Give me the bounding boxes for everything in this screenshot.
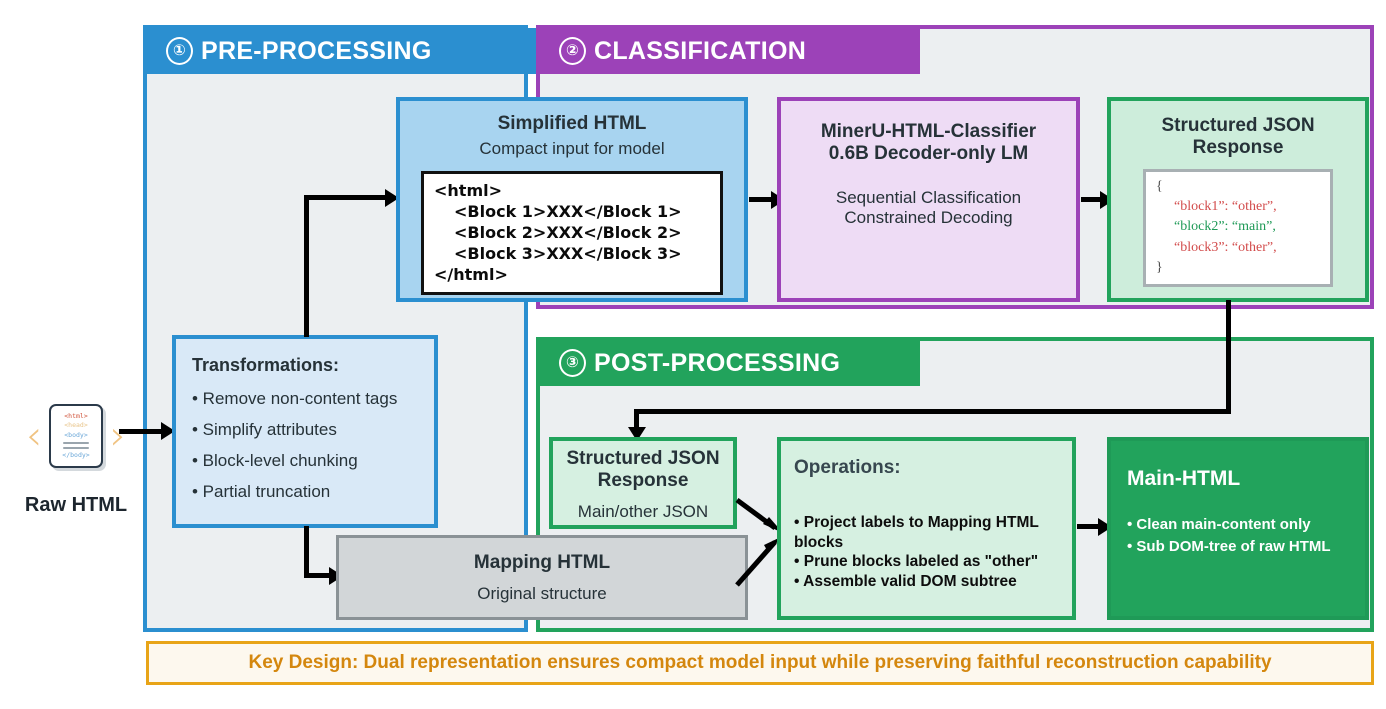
connector-transform-up xyxy=(304,195,309,337)
json-brace-close: } xyxy=(1156,258,1322,278)
json-entry: “block3”: “other”, xyxy=(1156,238,1322,258)
stage-tab-pre-processing: ① PRE-PROCESSING xyxy=(146,28,571,74)
post-structured-json-title-line1: Structured JSON xyxy=(559,448,727,470)
doc-line-head: <head> xyxy=(55,421,97,431)
simplified-html-box: Simplified HTML Compact input for model … xyxy=(396,97,748,302)
angle-left-icon: ‹ xyxy=(26,416,42,456)
simplified-html-title: Simplified HTML xyxy=(414,113,730,135)
connector-transform-down xyxy=(304,526,309,578)
stage-tab-post-processing: ③ POST-PROCESSING xyxy=(539,340,920,386)
json-entry-value: “other”, xyxy=(1232,199,1277,214)
json-entry-key: “block3”: xyxy=(1174,240,1228,255)
transformations-item: • Remove non-content tags xyxy=(192,390,418,407)
main-html-item: • Clean main-content only xyxy=(1127,514,1351,536)
mapping-html-subtitle: Original structure xyxy=(349,584,735,604)
operations-list: • Project labels to Mapping HTML blocks … xyxy=(794,513,1060,591)
connector-json-down xyxy=(1226,300,1231,414)
raw-html-label: Raw HTML xyxy=(6,494,146,517)
transformations-item: • Partial truncation xyxy=(192,483,418,500)
raw-html-icon: ‹ <html> <head> <body> </body> › xyxy=(6,392,146,480)
operations-title: Operations: xyxy=(794,457,1060,479)
classifier-title-line1: MinerU-HTML-Classifier xyxy=(793,121,1064,143)
doc-line-body: <body> xyxy=(55,431,97,441)
simplified-html-code: <html> <Block 1>XXX</Block 1> <Block 2>X… xyxy=(421,171,723,296)
classifier-subtitle-line1: Sequential Classification xyxy=(793,188,1064,208)
stage-number-3: ③ xyxy=(559,349,586,377)
transformations-list: • Remove non-content tags • Simplify att… xyxy=(192,390,418,500)
classifier-title-line2: 0.6B Decoder-only LM xyxy=(793,143,1064,165)
json-entry-key: “block2”: xyxy=(1174,219,1228,234)
classifier-subtitle-line2: Constrained Decoding xyxy=(793,208,1064,228)
doc-rule-1 xyxy=(63,442,89,444)
json-entry-key: “block1”: xyxy=(1174,199,1228,214)
mapping-html-title: Mapping HTML xyxy=(349,552,735,574)
main-html-box: Main-HTML • Clean main-content only • Su… xyxy=(1107,437,1369,620)
code-line-close: </html> xyxy=(434,264,710,285)
key-design-text: Key Design: Dual representation ensures … xyxy=(248,652,1271,674)
json-entry: “block1”: “other”, xyxy=(1156,197,1322,217)
stage-label-post-processing: POST-PROCESSING xyxy=(594,351,840,376)
mapping-html-box: Mapping HTML Original structure xyxy=(336,535,748,620)
doc-rule-2 xyxy=(63,447,89,449)
key-design-banner: Key Design: Dual representation ensures … xyxy=(146,641,1374,685)
doc-line-body-close: </body> xyxy=(55,451,97,461)
code-line-block: <Block 1>XXX</Block 1> xyxy=(434,201,710,222)
angle-right-icon: › xyxy=(110,416,126,456)
operations-item: • Assemble valid DOM subtree xyxy=(794,572,1060,592)
operations-item: • Project labels to Mapping HTML blocks xyxy=(794,513,1060,552)
structured-json-title-line1: Structured JSON xyxy=(1125,115,1351,137)
post-structured-json-box: Structured JSON Response Main/other JSON xyxy=(549,437,737,529)
structured-json-box: Structured JSON Response { “block1”: “ot… xyxy=(1107,97,1369,302)
post-structured-json-subtitle: Main/other JSON xyxy=(559,502,727,522)
connector-raw-to-transform xyxy=(119,429,163,434)
operations-box: Operations: • Project labels to Mapping … xyxy=(777,437,1076,620)
code-line-open: <html> xyxy=(434,180,710,201)
doc-line-html: <html> xyxy=(55,412,97,422)
json-brace-open: { xyxy=(1156,177,1322,197)
stage-tab-classification: ② CLASSIFICATION xyxy=(539,28,920,74)
json-entry-value: “main”, xyxy=(1232,219,1276,234)
post-structured-json-title-line2: Response xyxy=(559,470,727,492)
stage-label-pre-processing: PRE-PROCESSING xyxy=(201,39,432,64)
json-entry: “block2”: “main”, xyxy=(1156,217,1322,237)
structured-json-title-line2: Response xyxy=(1125,137,1351,159)
main-html-title: Main-HTML xyxy=(1127,467,1351,491)
stage-number-2: ② xyxy=(559,37,586,65)
connector-json-left xyxy=(634,409,1231,414)
connector-transform-to-simplified xyxy=(304,195,388,200)
stage-number-1: ① xyxy=(166,37,193,65)
code-line-block: <Block 2>XXX</Block 2> xyxy=(434,222,710,243)
main-html-item: • Sub DOM-tree of raw HTML xyxy=(1127,536,1351,558)
code-line-block: <Block 3>XXX</Block 3> xyxy=(434,243,710,264)
connector-transform-to-mapping xyxy=(304,573,332,578)
transformations-box: Transformations: • Remove non-content ta… xyxy=(172,335,438,528)
transformations-title: Transformations: xyxy=(192,355,418,376)
transformations-item: • Block-level chunking xyxy=(192,452,418,469)
operations-item: • Prune blocks labeled as "other" xyxy=(794,552,1060,572)
structured-json-card: { “block1”: “other”, “block2”: “main”, “… xyxy=(1143,169,1333,287)
simplified-html-subtitle: Compact input for model xyxy=(414,139,730,159)
main-html-list: • Clean main-content only • Sub DOM-tree… xyxy=(1127,514,1351,558)
document-icon: <html> <head> <body> </body> xyxy=(49,404,103,468)
classifier-box: MinerU-HTML-Classifier 0.6B Decoder-only… xyxy=(777,97,1080,302)
raw-html-group: ‹ <html> <head> <body> </body> › Raw HTM… xyxy=(6,392,146,522)
transformations-item: • Simplify attributes xyxy=(192,421,418,438)
json-entry-value: “other”, xyxy=(1232,240,1277,255)
stage-label-classification: CLASSIFICATION xyxy=(594,39,806,64)
